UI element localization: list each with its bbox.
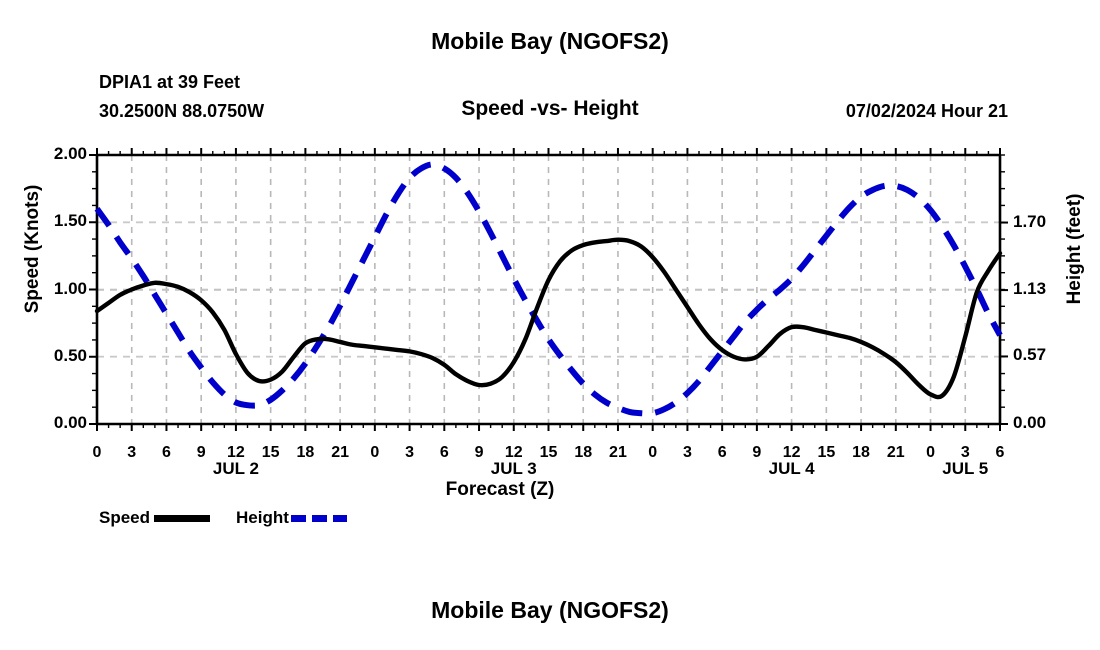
x-axis-day-label: JUL 3 [469,459,559,479]
x-axis-day-label: JUL 2 [191,459,281,479]
page-title-bottom: Mobile Bay (NGOFS2) [0,597,1100,624]
legend-label-height: Height [236,508,289,528]
chart-page: Mobile Bay (NGOFS2) DPIA1 at 39 Feet 30.… [0,0,1100,650]
legend-item-speed: Speed [99,508,236,528]
chart-legend: Speed Height [99,508,347,528]
legend-swatch-speed-icon [154,515,210,522]
legend-label-speed: Speed [99,508,150,528]
x-axis-day-label: JUL 5 [920,459,1010,479]
legend-item-height: Height [236,508,347,528]
x-axis-day-label: JUL 4 [747,459,837,479]
legend-swatch-height-icon [291,515,347,522]
x-axis-day-labels: JUL 2JUL 3JUL 4JUL 5 [0,0,1100,650]
